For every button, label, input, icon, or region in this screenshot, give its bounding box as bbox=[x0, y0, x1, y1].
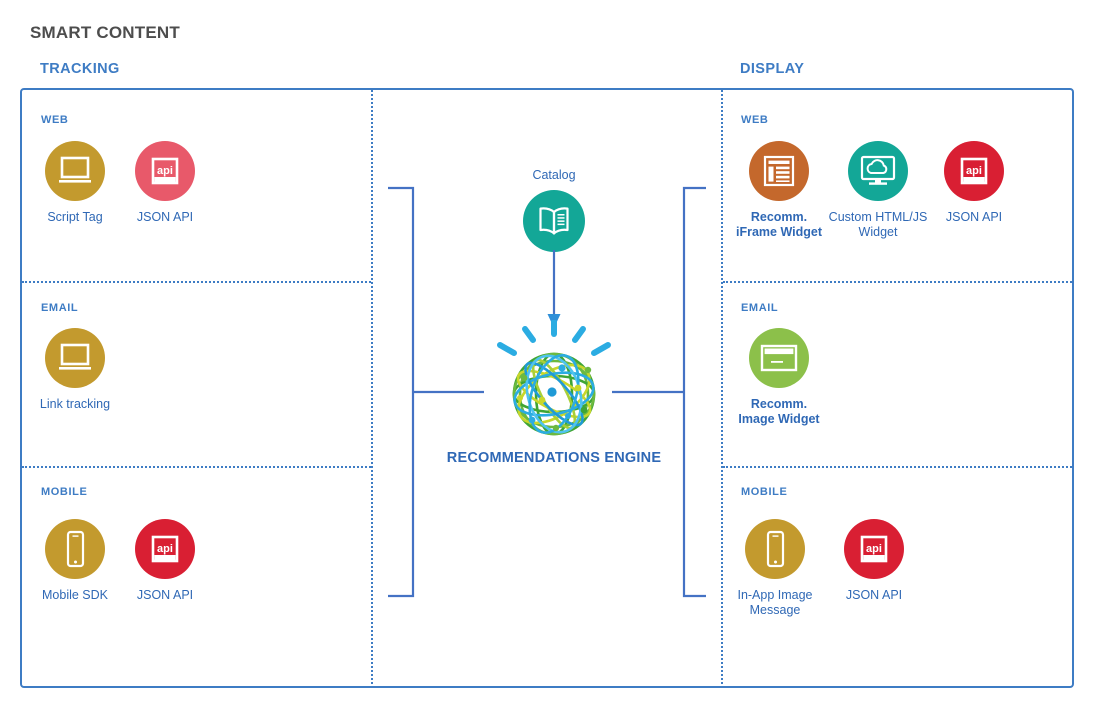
divider-vertical-right bbox=[721, 90, 723, 688]
column-heading-tracking: TRACKING bbox=[40, 61, 120, 77]
diagram-canvas: SMART CONTENT TRACKING DISPLAY WEB EMAIL… bbox=[0, 0, 1096, 712]
node-script-tag[interactable]: Script Tag bbox=[29, 141, 121, 225]
section-label-display-web: WEB bbox=[741, 114, 768, 126]
node-link-tracking[interactable]: Link tracking bbox=[29, 328, 121, 412]
iframe-window-icon bbox=[749, 141, 809, 201]
node-label: Recomm. Image Widget bbox=[729, 397, 829, 427]
divider-horizontal-tracking-1 bbox=[22, 281, 371, 283]
node-label: Recomm. iFrame Widget bbox=[729, 210, 829, 240]
node-in-app-image-message[interactable]: In-App Image Message bbox=[725, 519, 825, 618]
node-label: JSON API bbox=[928, 210, 1020, 225]
divider-vertical-left bbox=[371, 90, 373, 688]
node-json-api-display-mobile[interactable]: api JSON API bbox=[828, 519, 920, 603]
open-book-icon bbox=[523, 190, 585, 252]
laptop-icon bbox=[45, 141, 105, 201]
node-label: In-App Image Message bbox=[725, 588, 825, 618]
node-label: Mobile SDK bbox=[29, 588, 121, 603]
node-recomm-iframe-widget[interactable]: Recomm. iFrame Widget bbox=[729, 141, 829, 240]
laptop-icon bbox=[45, 328, 105, 388]
node-json-api-tracking-mobile[interactable]: api JSON API bbox=[119, 519, 211, 603]
connector-bracket-right bbox=[596, 186, 708, 603]
svg-text:api: api bbox=[966, 165, 982, 177]
svg-text:api: api bbox=[157, 543, 173, 555]
divider-horizontal-display-1 bbox=[723, 281, 1072, 283]
catalog-label: Catalog bbox=[494, 168, 614, 182]
connector-bracket-left bbox=[386, 186, 518, 603]
section-label-tracking-mobile: MOBILE bbox=[41, 486, 87, 498]
node-label: JSON API bbox=[119, 210, 211, 225]
api-icon: api bbox=[135, 519, 195, 579]
svg-text:api: api bbox=[157, 165, 173, 177]
node-json-api-display-web[interactable]: api JSON API bbox=[928, 141, 1020, 225]
node-label: JSON API bbox=[828, 588, 920, 603]
api-icon: api bbox=[135, 141, 195, 201]
cloud-monitor-icon bbox=[848, 141, 908, 201]
node-label: Link tracking bbox=[29, 397, 121, 412]
node-label: JSON API bbox=[119, 588, 211, 603]
column-heading-display: DISPLAY bbox=[740, 61, 804, 77]
svg-text:api: api bbox=[866, 543, 882, 555]
api-icon: api bbox=[944, 141, 1004, 201]
divider-horizontal-display-2 bbox=[723, 466, 1072, 468]
section-label-tracking-web: WEB bbox=[41, 114, 68, 126]
section-label-display-mobile: MOBILE bbox=[741, 486, 787, 498]
node-label: Custom HTML/JS Widget bbox=[827, 210, 929, 240]
phone-icon bbox=[745, 519, 805, 579]
phone-icon bbox=[45, 519, 105, 579]
section-label-tracking-email: EMAIL bbox=[41, 302, 78, 314]
section-label-display-email: EMAIL bbox=[741, 302, 778, 314]
node-json-api-tracking-web[interactable]: api JSON API bbox=[119, 141, 211, 225]
page-title: SMART CONTENT bbox=[30, 23, 180, 43]
node-mobile-sdk[interactable]: Mobile SDK bbox=[29, 519, 121, 603]
divider-horizontal-tracking-2 bbox=[22, 466, 371, 468]
image-card-icon bbox=[749, 328, 809, 388]
node-recomm-image-widget[interactable]: Recomm. Image Widget bbox=[729, 328, 829, 427]
node-label: Script Tag bbox=[29, 210, 121, 225]
api-icon: api bbox=[844, 519, 904, 579]
node-custom-html-js-widget[interactable]: Custom HTML/JS Widget bbox=[827, 141, 929, 240]
